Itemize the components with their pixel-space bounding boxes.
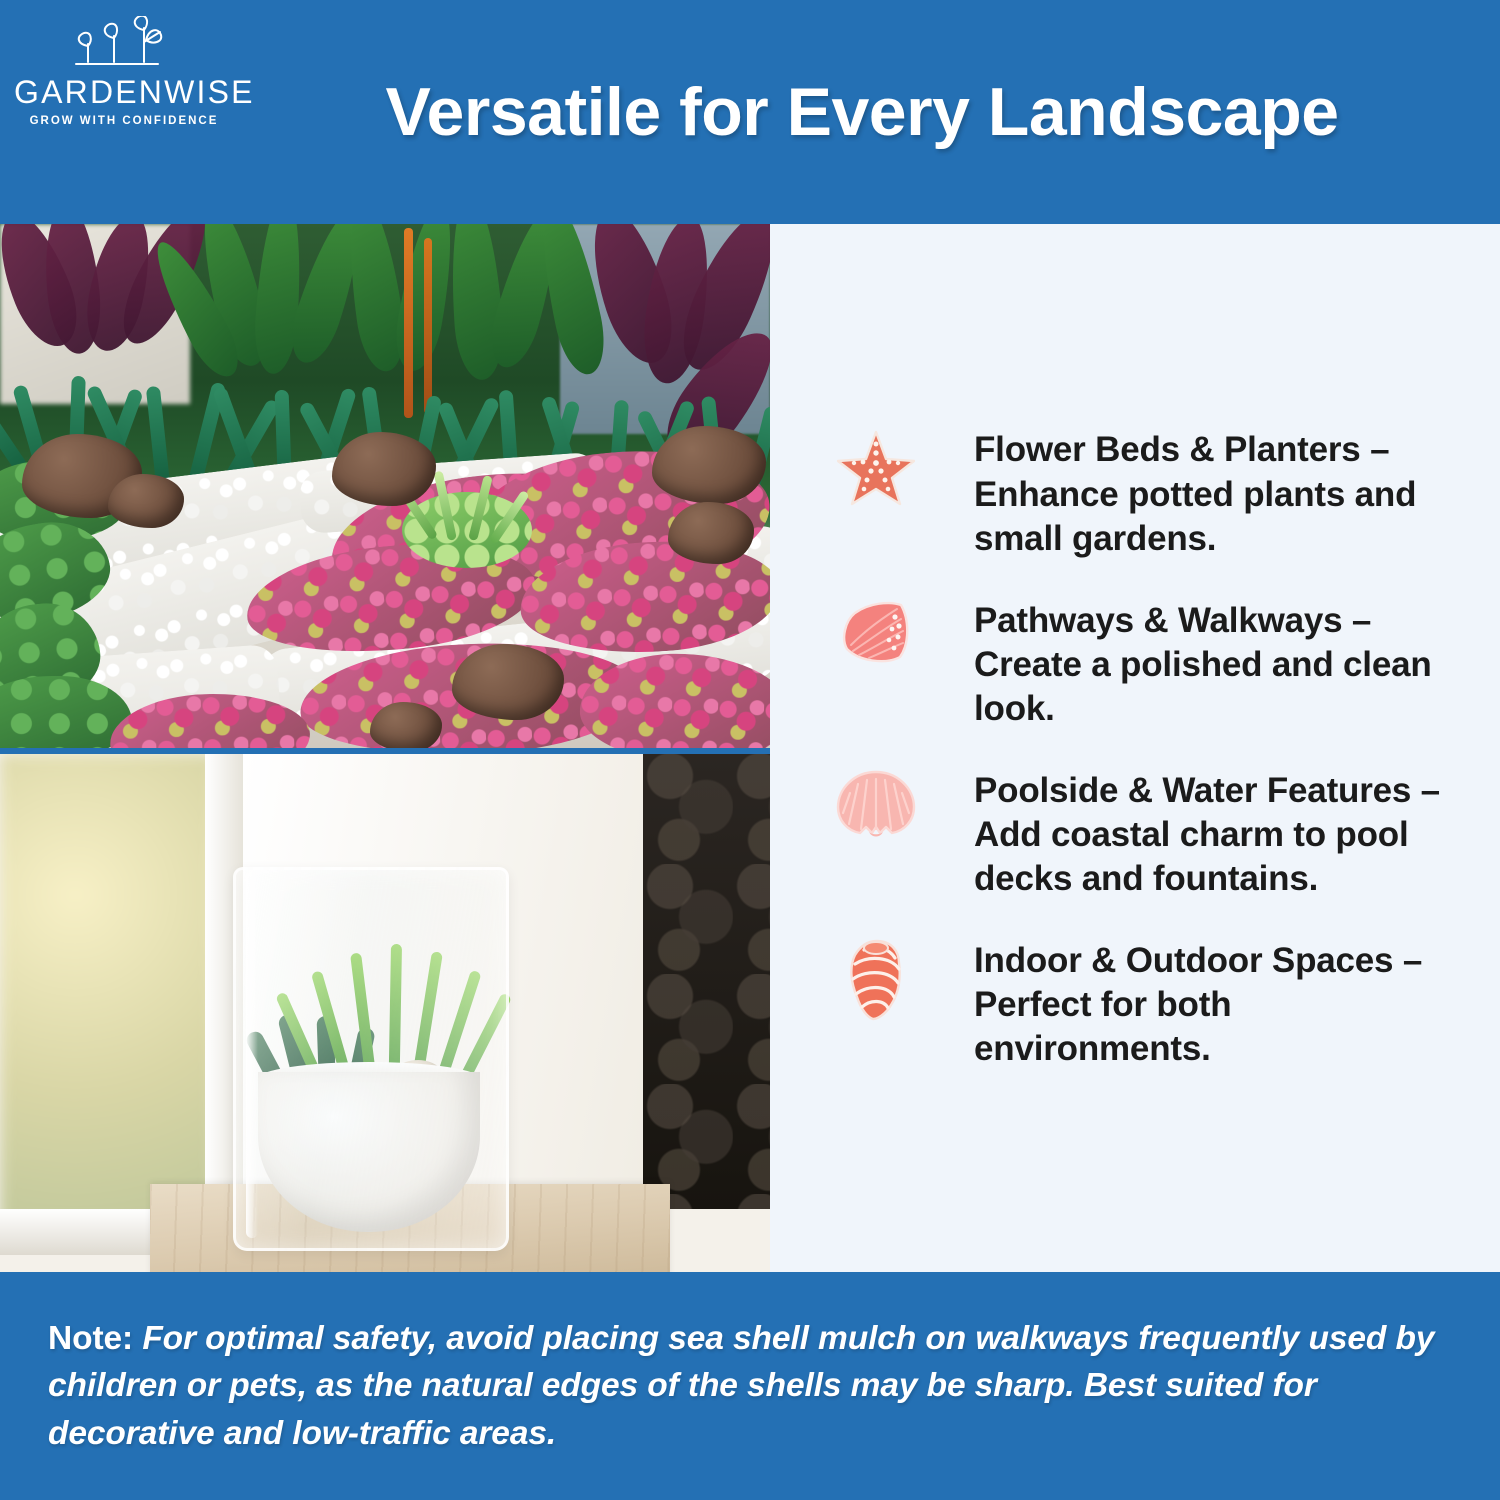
- note-body: For optimal safety, avoid placing sea sh…: [48, 1320, 1434, 1452]
- feature-list: Flower Beds & Planters – Enhance potted …: [770, 224, 1500, 1272]
- feature-text: Indoor & Outdoor Spaces – Perfect for bo…: [922, 935, 1470, 1071]
- brand-tagline: GROW WITH CONFIDENCE: [14, 115, 234, 127]
- feature-text: Pathways & Walkways – Create a polished …: [922, 595, 1470, 731]
- seedling-sprouts-icon: [64, 16, 184, 74]
- feature-text: Flower Beds & Planters – Enhance potted …: [922, 424, 1470, 560]
- conch-shell-icon: [830, 935, 922, 1027]
- feature-item-flower-beds: Flower Beds & Planters – Enhance potted …: [770, 407, 1500, 577]
- content-area: Flower Beds & Planters – Enhance potted …: [0, 224, 1500, 1272]
- header-banner: GARDENWISE GROW WITH CONFIDENCE Versatil…: [0, 0, 1500, 224]
- feature-item-poolside: Poolside & Water Features – Add coastal …: [770, 748, 1500, 918]
- scallop-shell-icon: [830, 765, 922, 857]
- photo-column: [0, 224, 770, 1272]
- photo-glass-planter: [0, 754, 770, 1272]
- brand-name: GARDENWISE: [14, 76, 234, 108]
- starfish-icon: [830, 424, 922, 516]
- page-title: Versatile for Every Landscape: [232, 0, 1492, 224]
- feature-item-pathways: Pathways & Walkways – Create a polished …: [770, 578, 1500, 748]
- safety-note: Note: For optimal safety, avoid placing …: [0, 1315, 1500, 1458]
- feature-text: Poolside & Water Features – Add coastal …: [922, 765, 1470, 901]
- note-label: Note:: [48, 1320, 142, 1357]
- footer-note-bar: Note: For optimal safety, avoid placing …: [0, 1272, 1500, 1500]
- clam-shell-icon: [830, 595, 922, 687]
- photo-tropical-garden: [0, 224, 770, 748]
- brand-logo: GARDENWISE GROW WITH CONFIDENCE: [14, 16, 234, 127]
- infographic-page: GARDENWISE GROW WITH CONFIDENCE Versatil…: [0, 0, 1500, 1500]
- feature-item-indoor-outdoor: Indoor & Outdoor Spaces – Perfect for bo…: [770, 918, 1500, 1088]
